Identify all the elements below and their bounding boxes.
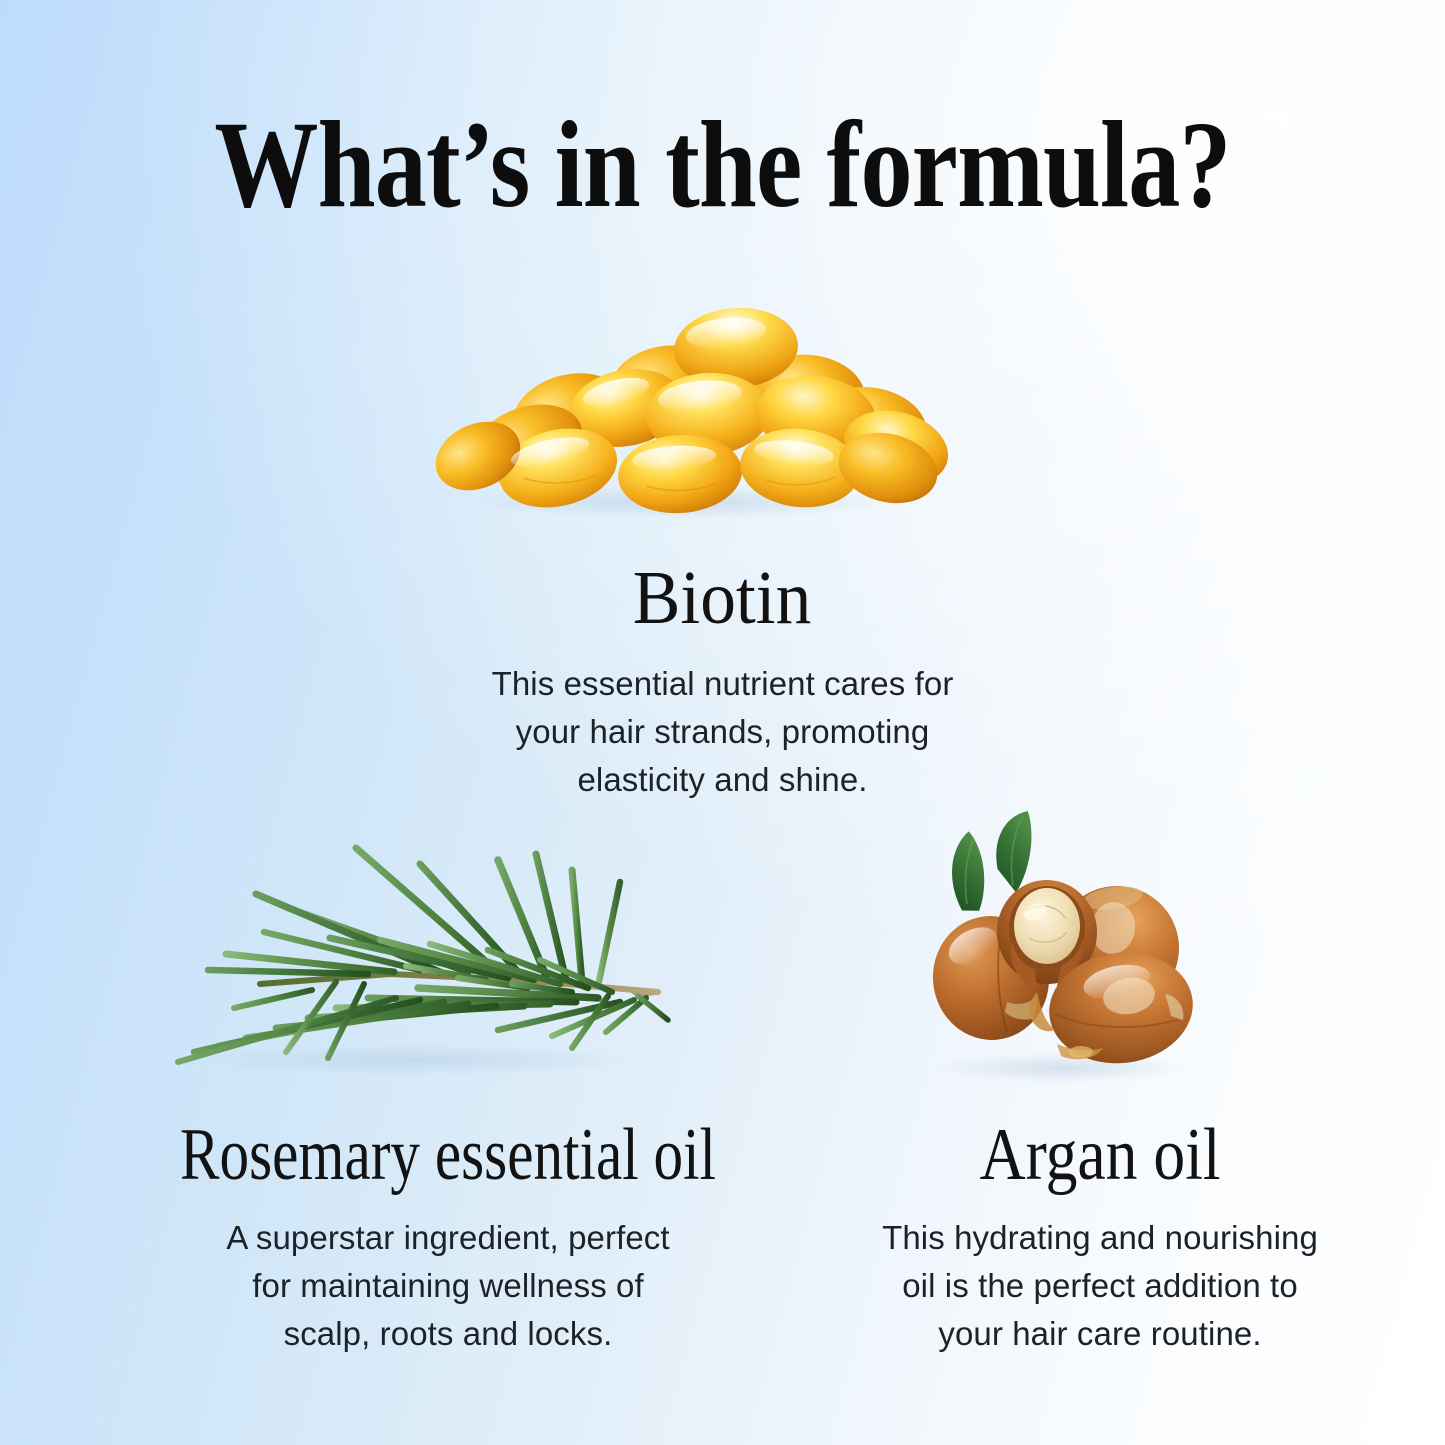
ingredient-description-rosemary: A superstar ingredient, perfect for main… xyxy=(48,1214,848,1358)
description-line: This hydrating and nourishing xyxy=(818,1214,1382,1262)
ingredient-title-biotin: Biotin xyxy=(633,560,812,636)
biotin-capsules-image xyxy=(418,296,938,518)
description-line: elasticity and shine. xyxy=(0,756,1445,804)
page-title: What’s in the formula? xyxy=(116,103,1330,227)
description-line: This essential nutrient cares for xyxy=(0,660,1445,708)
description-line: your hair strands, promoting xyxy=(0,708,1445,756)
description-line: oil is the perfect addition to xyxy=(818,1262,1382,1310)
description-line: your hair care routine. xyxy=(818,1310,1382,1358)
description-line: scalp, roots and locks. xyxy=(128,1310,768,1358)
ingredient-biotin: Biotin This essential nutrient cares for… xyxy=(0,560,1445,804)
ingredient-title-rosemary: Rosemary essential oil xyxy=(180,1118,716,1192)
description-line: A superstar ingredient, perfect xyxy=(128,1214,768,1262)
ingredient-title-argan: Argan oil xyxy=(980,1118,1221,1192)
ingredient-rosemary: Rosemary essential oil A superstar ingre… xyxy=(48,1118,848,1358)
rosemary-sprig-image xyxy=(168,812,688,1084)
ingredients-infographic: What’s in the formula? xyxy=(0,0,1445,1445)
description-line: for maintaining wellness of xyxy=(128,1262,768,1310)
ingredient-argan: Argan oil This hydrating and nourishing … xyxy=(800,1118,1400,1358)
ingredient-description-biotin: This essential nutrient cares for your h… xyxy=(0,660,1445,804)
ingredient-description-argan: This hydrating and nourishing oil is the… xyxy=(800,1214,1400,1358)
argan-nuts-image xyxy=(895,806,1225,1086)
